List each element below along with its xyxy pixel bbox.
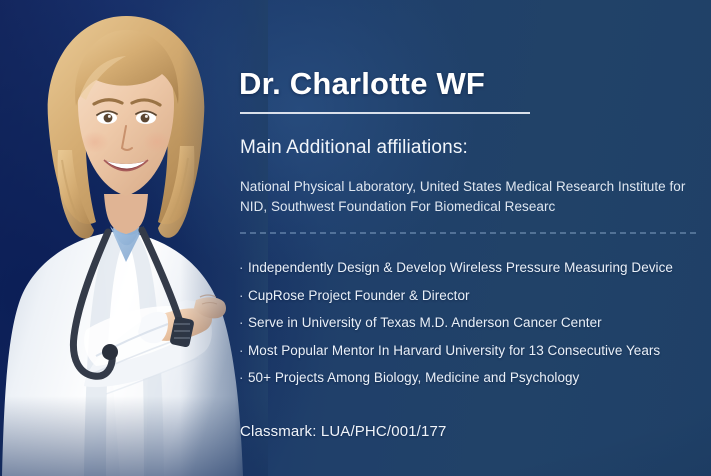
- stethoscope-chestpiece: [102, 344, 118, 360]
- doctor-portrait-photo: [0, 0, 268, 476]
- list-item: ·Independently Design & Develop Wireless…: [239, 254, 699, 282]
- list-item-label: Most Popular Mentor In Harvard Universit…: [248, 343, 660, 358]
- list-item-label: CupRose Project Founder & Director: [248, 288, 470, 303]
- profile-content: Dr. Charlotte WF Main Additional affilia…: [239, 0, 711, 476]
- doctor-profile-card: Dr. Charlotte WF Main Additional affilia…: [0, 0, 711, 476]
- bullet-marker: ·: [239, 337, 248, 365]
- bullet-marker: ·: [239, 309, 248, 337]
- classmark-label: Classmark: LUA/PHC/001/177: [240, 421, 446, 443]
- list-item-label: Independently Design & Develop Wireless …: [248, 260, 673, 275]
- affiliations-text: National Physical Laboratory, United Sta…: [240, 177, 698, 217]
- list-item-label: 50+ Projects Among Biology, Medicine and…: [248, 370, 579, 385]
- list-item: ·50+ Projects Among Biology, Medicine an…: [239, 364, 699, 392]
- bullet-marker: ·: [239, 254, 248, 282]
- achievements-list: ·Independently Design & Develop Wireless…: [239, 254, 699, 392]
- list-item: ·Serve in University of Texas M.D. Ander…: [239, 309, 699, 337]
- list-item-label: Serve in University of Texas M.D. Anders…: [248, 315, 602, 330]
- section-divider: [240, 232, 696, 234]
- doctor-name-underline: [240, 112, 530, 114]
- bullet-marker: ·: [239, 282, 248, 310]
- bullet-marker: ·: [239, 364, 248, 392]
- affiliations-heading: Main Additional affiliations:: [240, 135, 468, 161]
- doctor-name: Dr. Charlotte WF: [239, 65, 485, 103]
- list-item: ·CupRose Project Founder & Director: [239, 282, 699, 310]
- list-item: ·Most Popular Mentor In Harvard Universi…: [239, 337, 699, 365]
